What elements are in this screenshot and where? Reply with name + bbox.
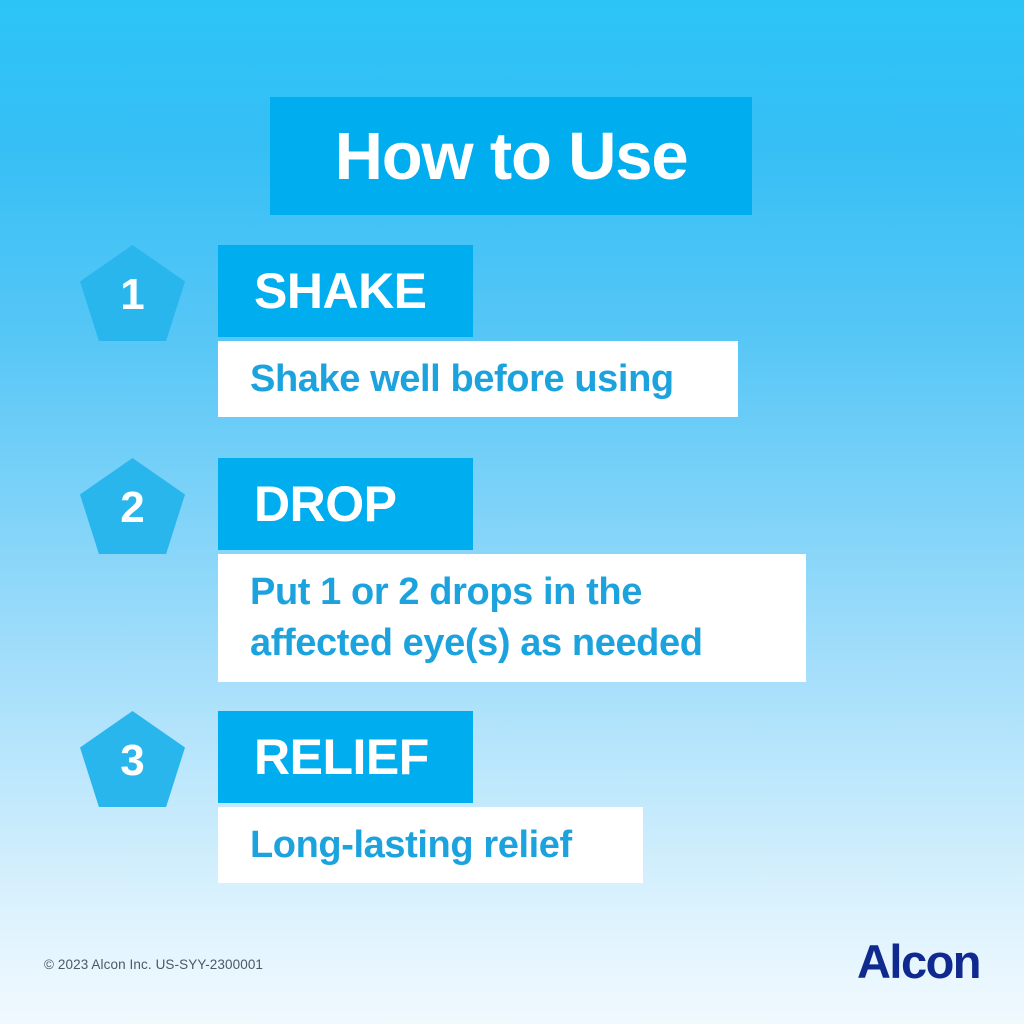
infographic-canvas: How to Use 1 SHAKE Shake well before usi…: [0, 0, 1024, 1024]
alcon-logo: Alcon: [857, 938, 980, 985]
step-2-heading: DROP: [218, 479, 396, 529]
step-3-number-badge: 3: [80, 711, 185, 807]
page-title: How to Use: [335, 123, 688, 190]
step-1-number-badge: 1: [80, 245, 185, 341]
copyright-notice: © 2023 Alcon Inc. US-SYY-2300001: [44, 957, 263, 972]
step-1-body-box: Shake well before using: [218, 341, 738, 417]
step-3-body-box: Long-lasting relief: [218, 807, 643, 883]
step-1-number: 1: [120, 273, 144, 317]
step-2-heading-box: DROP: [218, 458, 473, 550]
page-title-band: How to Use: [270, 97, 752, 215]
step-1-heading-box: SHAKE: [218, 245, 473, 337]
step-3-heading: RELIEF: [218, 732, 429, 782]
step-3-number: 3: [120, 739, 144, 783]
step-2-number-badge: 2: [80, 458, 185, 554]
step-1-heading: SHAKE: [218, 266, 427, 316]
step-3-body: Long-lasting relief: [218, 820, 590, 871]
step-2-body: Put 1 or 2 drops in the affected eye(s) …: [218, 567, 806, 668]
step-1-body: Shake well before using: [218, 354, 692, 405]
step-2-number: 2: [120, 486, 144, 530]
step-2-body-box: Put 1 or 2 drops in the affected eye(s) …: [218, 554, 806, 682]
step-3-heading-box: RELIEF: [218, 711, 473, 803]
